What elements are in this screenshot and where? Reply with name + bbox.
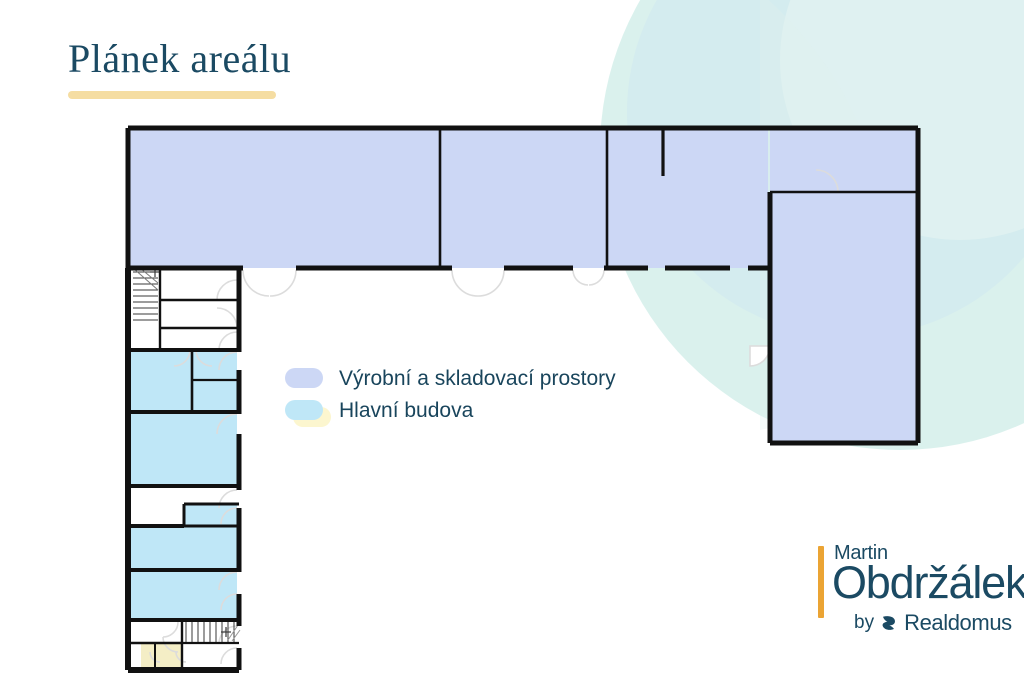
realdomus-swirl-icon	[878, 612, 900, 634]
door-arc-hall3-b	[589, 270, 604, 285]
room-warehouse-hall-2	[441, 130, 606, 268]
door-arc-hall1-a	[243, 270, 269, 296]
room-main-building-1c	[192, 380, 237, 412]
logo-accent-bar	[818, 546, 824, 618]
room-warehouse-hall-3	[608, 130, 768, 268]
door-arc-hall2-a	[452, 270, 478, 296]
door-arc-hall2-b	[478, 270, 504, 296]
room-main-building-4	[130, 570, 237, 620]
room-warehouse-hall-4	[770, 130, 918, 192]
room-main-building-1	[130, 350, 192, 412]
logo-byline: by Realdomus	[854, 610, 1012, 636]
legend: Výrobní a skladovací prostory Hlavní bud…	[285, 363, 616, 427]
logo-brand-name: Realdomus	[904, 610, 1012, 636]
legend-swatch-production-wrap	[285, 368, 337, 390]
door-arc-hall1-b	[270, 270, 296, 296]
logo-last-name: Obdržálek	[832, 560, 1024, 605]
room-warehouse-hall-1	[128, 130, 439, 268]
legend-item-production[interactable]: Výrobní a skladovací prostory	[285, 363, 616, 395]
room-east-wing	[770, 192, 918, 443]
legend-swatch-main-building-wrap	[285, 400, 337, 422]
legend-swatch-production	[285, 368, 323, 388]
slide-canvas: Plánek areálu	[0, 0, 1024, 682]
room-main-building-1b	[192, 350, 237, 380]
brand-logo[interactable]: Martin Obdržálek by Realdomus	[818, 542, 1018, 642]
door-arc-east-wing-left	[750, 346, 770, 366]
logo-by-text: by	[854, 612, 874, 634]
legend-swatch-main-building	[285, 400, 323, 420]
legend-label-production: Výrobní a skladovací prostory	[339, 367, 616, 391]
door-arc-hall3-a	[573, 270, 588, 285]
legend-item-main-building[interactable]: Hlavní budova	[285, 395, 616, 427]
legend-label-main-building: Hlavní budova	[339, 399, 473, 423]
